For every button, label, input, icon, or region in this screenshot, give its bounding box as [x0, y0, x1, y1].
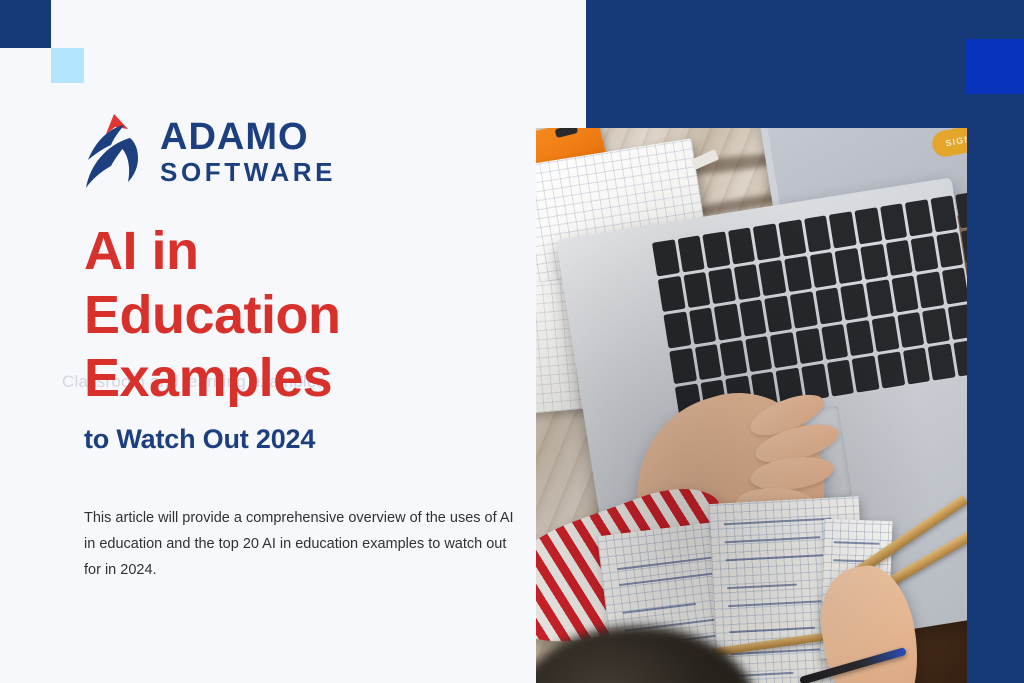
keyboard-key: [880, 203, 908, 240]
keyboard-key: [897, 312, 925, 349]
headline-line-3: Examples: [84, 347, 341, 411]
adamo-swoosh-arrow-icon: [84, 112, 146, 190]
keyboard-key: [677, 235, 705, 272]
keyboard-key: [796, 328, 824, 365]
keyboard-key: [840, 284, 868, 321]
keyboard-key: [872, 316, 900, 353]
keyboard-key: [759, 259, 787, 296]
keyboard-key: [765, 296, 793, 333]
keyboard-key: [936, 231, 964, 268]
keyboard-key: [720, 340, 748, 377]
page-title: AI in Education Examples: [84, 220, 341, 411]
sign-up-button[interactable]: SIGN UP: [930, 128, 967, 159]
keyboard-key: [734, 264, 762, 301]
content-column: ADAMO SOFTWARE Classroom and learning ex…: [84, 0, 554, 683]
logo-name-primary: ADAMO: [160, 118, 336, 156]
keyboard-key: [953, 340, 967, 377]
keyboard-key: [658, 276, 686, 313]
keyboard-key: [928, 344, 956, 381]
poster-canvas: SIGN UP: [0, 0, 1024, 683]
decor-navy-square: [0, 0, 51, 48]
keyboard-key: [922, 308, 950, 345]
decor-bright-blue-square: [966, 39, 1024, 94]
keyboard-key: [652, 239, 680, 276]
keyboard-key: [905, 199, 933, 236]
keyboard-key: [903, 348, 931, 385]
keyboard-key: [877, 352, 905, 389]
keyboard-key: [942, 268, 967, 305]
keyboard-key: [790, 292, 818, 329]
keyboard-key: [827, 360, 855, 397]
adamo-logo-text: ADAMO SOFTWARE: [160, 118, 336, 185]
keyboard-key: [739, 300, 767, 337]
keyboard-key: [770, 332, 798, 369]
keyboard-key: [669, 348, 697, 385]
headline-line-2: Education: [84, 284, 341, 348]
decor-light-blue-square: [51, 48, 84, 83]
keyboard-key: [784, 255, 812, 292]
keyboard-key: [708, 268, 736, 305]
keyboard-key: [745, 336, 773, 373]
keyboard-key: [846, 320, 874, 357]
headline-line-1: AI in: [84, 220, 341, 284]
keyboard-key: [891, 276, 919, 313]
keyboard-key: [714, 304, 742, 341]
keyboard-key: [728, 227, 756, 264]
keyboard-key: [829, 211, 857, 248]
adamo-logo[interactable]: ADAMO SOFTWARE: [84, 112, 336, 190]
keyboard-key: [835, 247, 863, 284]
logo-name-secondary: SOFTWARE: [160, 159, 336, 185]
keyboard-key: [809, 251, 837, 288]
keyboard-key: [885, 239, 913, 276]
keyboard-key: [753, 223, 781, 260]
keyboard-key: [815, 288, 843, 325]
keyboard-key: [866, 280, 894, 317]
keyboard-key: [778, 219, 806, 256]
keyboard-key: [911, 235, 939, 272]
photo-desk-background: SIGN UP: [536, 128, 967, 683]
keyboard-key: [930, 195, 958, 232]
keyboard-key: [683, 272, 711, 309]
keyboard-key: [703, 231, 731, 268]
keyboard-key: [916, 272, 944, 309]
keyboard-key: [821, 324, 849, 361]
keyboard-key: [947, 304, 967, 341]
keyboard-key: [860, 243, 888, 280]
keyboard-key: [956, 191, 967, 228]
page-subtitle: to Watch Out 2024: [84, 424, 315, 455]
keyboard-key: [804, 215, 832, 252]
keyboard-key: [854, 207, 882, 244]
keyboard-key: [852, 356, 880, 393]
keyboard-key: [694, 344, 722, 381]
intro-paragraph: This article will provide a comprehensiv…: [84, 506, 524, 583]
hero-photo: SIGN UP: [536, 128, 967, 683]
keyboard-key: [663, 312, 691, 349]
keyboard-key: [689, 308, 717, 345]
